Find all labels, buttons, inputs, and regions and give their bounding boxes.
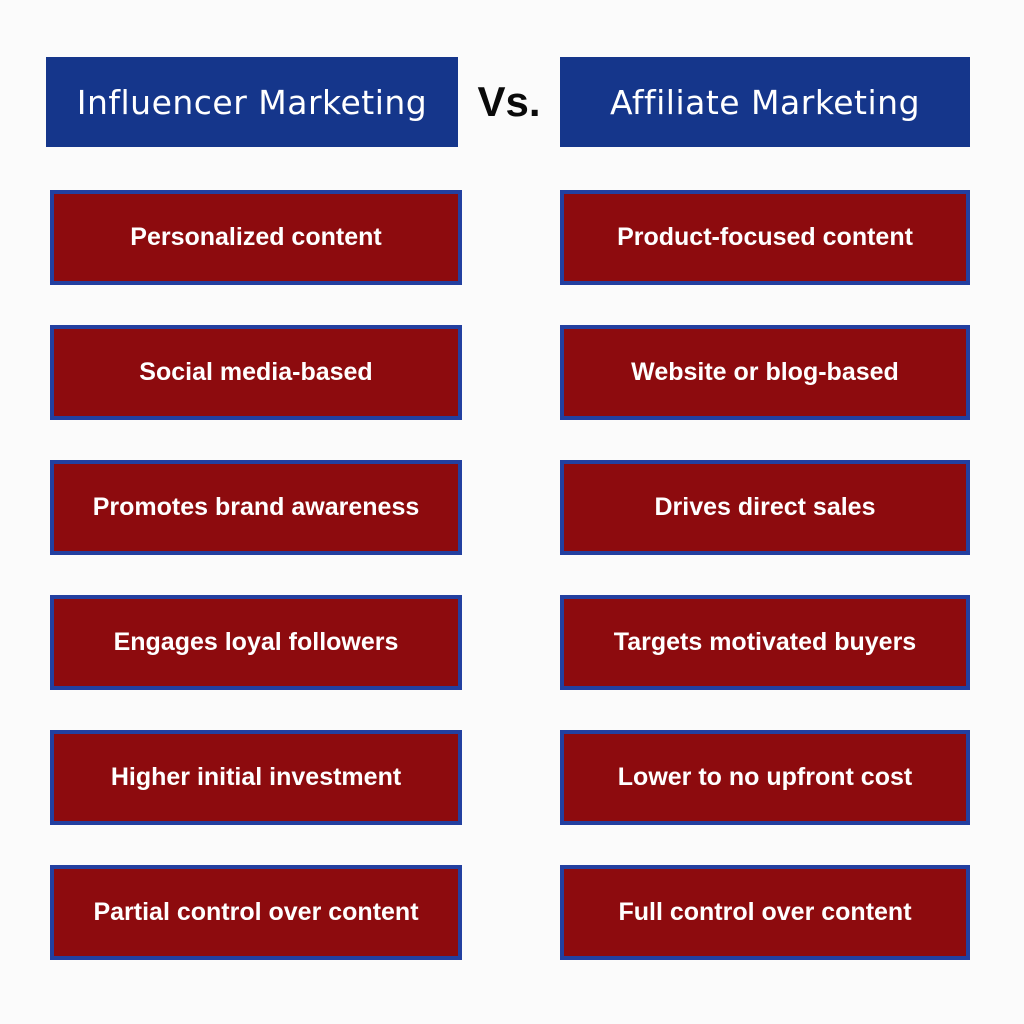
table-row: Promotes brand awareness Drives direct s…	[0, 460, 1024, 595]
header-box-influencer-marketing: Influencer Marketing	[46, 57, 458, 147]
cell-label: Social media-based	[139, 359, 372, 387]
cell-label: Targets motivated buyers	[614, 629, 916, 657]
table-row: Personalized content Product-focused con…	[0, 190, 1024, 325]
comparison-cell-left-1: Personalized content	[50, 190, 462, 285]
comparison-cell-right-4: Targets motivated buyers	[560, 595, 970, 690]
header-title-left: Influencer Marketing	[77, 86, 428, 119]
table-row: Social media-based Website or blog-based	[0, 325, 1024, 460]
comparison-cell-left-3: Promotes brand awareness	[50, 460, 462, 555]
header-box-affiliate-marketing: Affiliate Marketing	[560, 57, 970, 147]
cell-label: Lower to no upfront cost	[618, 764, 912, 792]
versus-label: Vs.	[458, 57, 560, 147]
cell-label: Drives direct sales	[655, 494, 876, 522]
cell-label: Website or blog-based	[631, 359, 899, 387]
cell-label: Engages loyal followers	[114, 629, 399, 657]
table-row: Engages loyal followers Targets motivate…	[0, 595, 1024, 730]
cell-label: Promotes brand awareness	[93, 494, 420, 522]
cell-label: Full control over content	[618, 899, 911, 927]
comparison-cell-right-3: Drives direct sales	[560, 460, 970, 555]
table-row: Higher initial investment Lower to no up…	[0, 730, 1024, 865]
table-row: Partial control over content Full contro…	[0, 865, 1024, 1000]
comparison-cell-left-5: Higher initial investment	[50, 730, 462, 825]
cell-label: Partial control over content	[93, 899, 418, 927]
cell-label: Product-focused content	[617, 224, 913, 252]
header-row: Influencer Marketing Vs. Affiliate Marke…	[0, 57, 1024, 147]
comparison-cell-right-1: Product-focused content	[560, 190, 970, 285]
comparison-rows: Personalized content Product-focused con…	[0, 190, 1024, 1000]
comparison-infographic: Influencer Marketing Vs. Affiliate Marke…	[0, 0, 1024, 1024]
cell-label: Personalized content	[130, 224, 381, 252]
comparison-cell-left-2: Social media-based	[50, 325, 462, 420]
cell-label: Higher initial investment	[111, 764, 401, 792]
comparison-cell-right-6: Full control over content	[560, 865, 970, 960]
comparison-cell-left-4: Engages loyal followers	[50, 595, 462, 690]
comparison-cell-right-2: Website or blog-based	[560, 325, 970, 420]
header-title-right: Affiliate Marketing	[610, 86, 920, 119]
comparison-cell-right-5: Lower to no upfront cost	[560, 730, 970, 825]
comparison-cell-left-6: Partial control over content	[50, 865, 462, 960]
